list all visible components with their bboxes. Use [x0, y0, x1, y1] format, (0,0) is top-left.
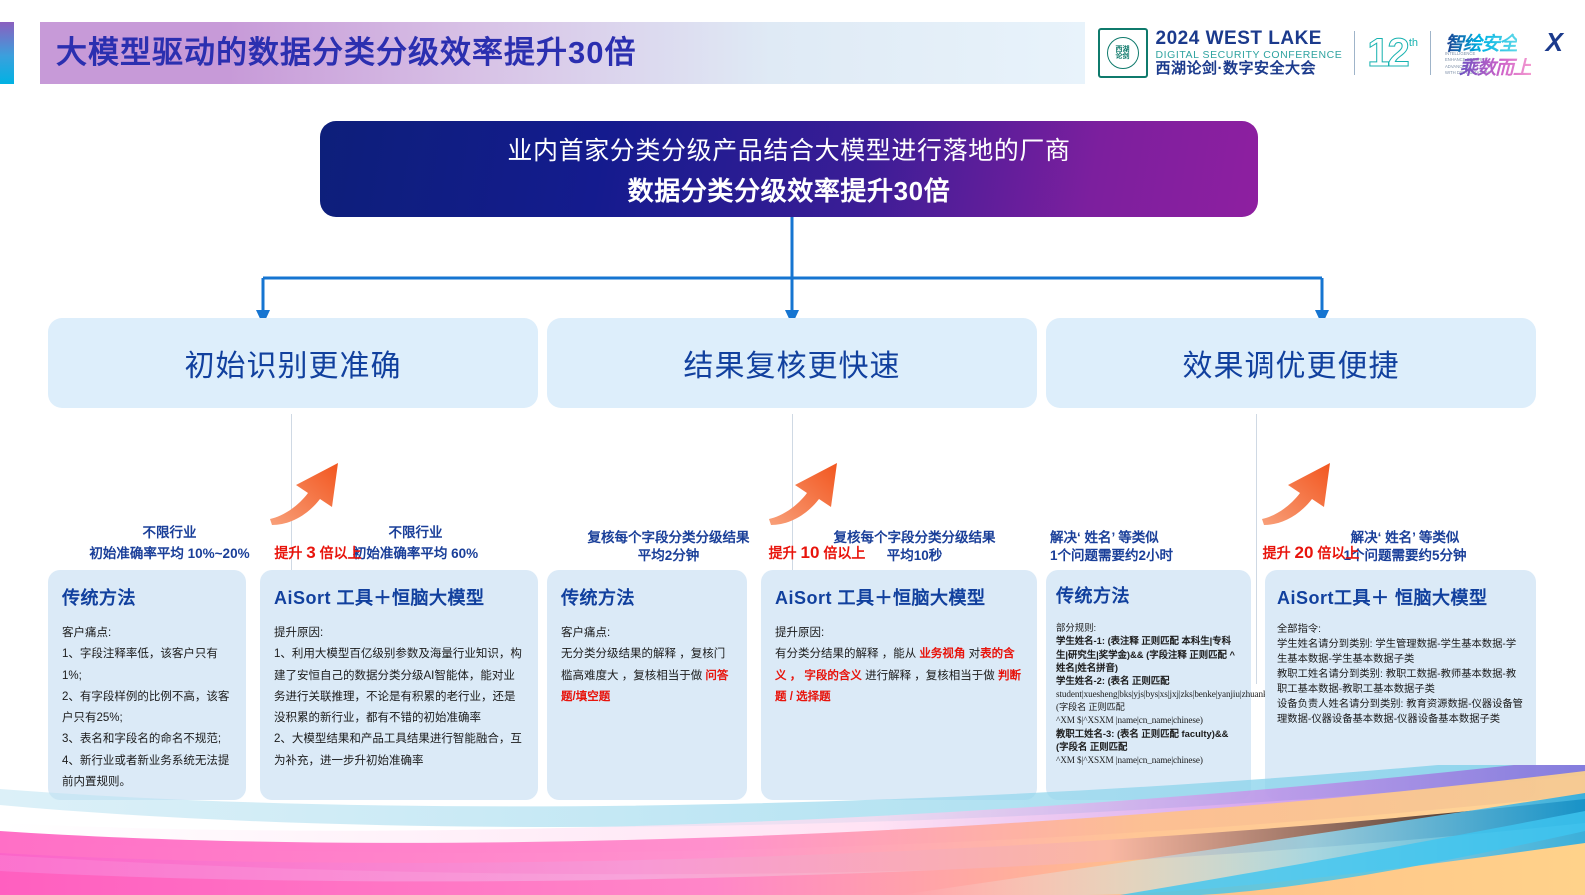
banner-line-2: 数据分类分级效率提升30倍 — [628, 171, 951, 208]
panel-line-aisort-1-0: 1、利用大模型百亿级别参数及海量行业知识，构建了安恒自己的数据分类分级AI智能体… — [274, 644, 524, 729]
hero-banner: 业内首家分类分级产品结合大模型进行落地的厂商 数据分类分级效率提升30倍 — [320, 121, 1258, 217]
uplift-prefix-1: 提升 — [274, 545, 302, 561]
panel-lead-1: 客户痛点: — [62, 623, 232, 644]
panel-line-1-1: 2、有字段样例的比例不高，该客户只有25%; — [62, 687, 232, 730]
uplift-label-1: 提升 3 倍以上 — [253, 543, 383, 563]
panel-body-aisort-2: 有分类分结果的解释 ，能从 业务视角 对表的含义 ， 字段的含义 进行解释 ，复… — [775, 644, 1023, 708]
stat-traditional-3-line2: 1个问题需要约2小时 — [1050, 547, 1256, 565]
conference-slogan-logo: 智绘安全 X INTELLIGENCEENHANCE SECURITYADVAN… — [1443, 27, 1571, 79]
panel-text-aisort-1: 提升原因: 1、利用大模型百亿级别参数及海量行业知识，构建了安恒自己的数据分类分… — [274, 623, 524, 772]
seg-2: 对 — [965, 648, 980, 660]
uplift-prefix-2: 提升 — [769, 545, 797, 561]
hl-business-view: 业务视角 — [919, 648, 965, 660]
column-heading-2: 结果复核更快速 — [547, 318, 1037, 408]
panel-lead-aisort-3: 全部指令: — [1277, 623, 1524, 638]
panel-title-traditional-2: 传统方法 — [561, 584, 733, 610]
uplift-suffix-2: 倍以上 — [823, 545, 865, 561]
conference-subtitle-en: DIGITAL SECURITY CONFERENCE — [1156, 50, 1343, 61]
growth-arrow-icon-3 — [1258, 455, 1342, 527]
column-heading-3: 效果调优更便捷 — [1046, 318, 1536, 408]
uplift-value-3: 20 — [1295, 543, 1314, 562]
panel-text-traditional-2: 客户痛点: 无分类分级结果的解释 ，复核门槛高难度大 ，复核相当于做 问答题/填… — [561, 623, 733, 708]
emblem-text: 西湖论剑 — [1116, 46, 1130, 61]
panel-text-traditional-3: 部分规则: 学生姓名-1: (表注释 正则匹配 本科生|专科生|研究生|奖学金)… — [1056, 621, 1241, 767]
panel-lead-aisort-1: 提升原因: — [274, 623, 524, 644]
rule-line-1: 学生姓名-2: (表名 正则匹配 — [1056, 674, 1241, 687]
panel-lead-3: 部分规则: — [1056, 621, 1241, 634]
uplift-prefix-3: 提升 — [1263, 545, 1291, 561]
stat-traditional-3: 解决‘ 姓名’ 等类似 1个问题需要约2小时 — [1046, 529, 1256, 565]
column-review-speed: 结果复核更快速 复核每个字段分类分级结果 平均2分钟 复核每个字段分类分级结果 … — [547, 318, 1037, 768]
panel-lead-aisort-2: 提升原因: — [775, 623, 1023, 644]
uplift-value-1: 3 — [306, 543, 315, 562]
comparison-columns: 初始识别更准确 不限行业 初始准确率平均 10%~20% 不限行业 初始准确率平… — [0, 318, 1585, 776]
instruction-line-0: 学生姓名请分到类别: 学生管理数据-学生基本数据-学生基本数据-学生基本数据子类 — [1277, 638, 1524, 668]
rule-line-4: 教职工姓名-3: (表名 正则匹配 faculty)&& (字段名 正则匹配 — [1056, 727, 1241, 754]
uplift-label-3: 提升 20 倍以上 — [1246, 543, 1376, 563]
panel-title-aisort-1: AiSort 工具＋恒脑大模型 — [274, 584, 524, 610]
edition-badge: 12 th — [1367, 34, 1418, 72]
panel-text-aisort-2: 提升原因: 有分类分结果的解释 ，能从 业务视角 对表的含义 ， 字段的含义 进… — [775, 623, 1023, 708]
bottom-decoration — [0, 765, 1585, 895]
conference-name-block: 2024 WEST LAKE DIGITAL SECURITY CONFEREN… — [1156, 29, 1343, 76]
logo-divider-2 — [1430, 31, 1431, 75]
column-body-3: 解决‘ 姓名’ 等类似 1个问题需要约2小时 解决‘ 姓名’ 等类似 1个问题需… — [1046, 408, 1536, 768]
header-accent-bar — [0, 22, 14, 84]
panel-title-traditional-1: 传统方法 — [62, 584, 232, 610]
edition-suffix: th — [1409, 37, 1418, 49]
rule-line-2: student|xuesheng|bks|yjs|bys|xs|jxj|zks|… — [1056, 688, 1241, 714]
column-initial-recognition: 初始识别更准确 不限行业 初始准确率平均 10%~20% 不限行业 初始准确率平… — [48, 318, 538, 768]
uplift-suffix-3: 倍以上 — [1317, 545, 1359, 561]
page-title: 大模型驱动的数据分类分级效率提升30倍 — [56, 22, 636, 84]
conference-name-cn: 西湖论剑·数字安全大会 — [1156, 61, 1343, 77]
conference-name-en: 2024 WEST LAKE — [1156, 29, 1343, 49]
conference-emblem-icon: 西湖论剑 — [1098, 28, 1148, 78]
column-stats-1: 不限行业 初始准确率平均 10%~20% 不限行业 初始准确率平均 60% — [48, 503, 538, 565]
column-stats-3: 解决‘ 姓名’ 等类似 1个问题需要约2小时 解决‘ 姓名’ 等类似 1个问题需… — [1046, 503, 1536, 565]
rule-line-0: 学生姓名-1: (表注释 正则匹配 本科生|专科生|研究生|奖学金)&& (字段… — [1056, 634, 1241, 674]
slide-root: 大模型驱动的数据分类分级效率提升30倍 西湖论剑 2024 WEST LAKE … — [0, 0, 1585, 895]
seg-1: 有分类分结果的解释 ，能从 — [775, 648, 919, 660]
instruction-line-2: 设备负责人姓名请分到类别: 教育资源数据-仪器设备管理数据-仪器设备基本数据-仪… — [1277, 698, 1524, 728]
panel-body-2: 无分类分级结果的解释 ，复核门槛高难度大 ，复核相当于做 问答题/填空题 — [561, 644, 733, 708]
instruction-line-1: 教职工姓名请分到类别: 教职工数据-教师基本数据-教职工基本数据-教职工基本数据… — [1277, 668, 1524, 698]
panel-title-aisort-3: AiSort工具＋ 恒脑大模型 — [1277, 584, 1524, 610]
rule-line-3: ^XM $|^XSXM |name|cn_name|chinese) — [1056, 714, 1241, 727]
logo-divider-1 — [1354, 31, 1355, 75]
uplift-label-2: 提升 10 倍以上 — [752, 543, 882, 563]
slogan-bottom: 乘数而上 — [1459, 53, 1531, 80]
seg-3: 进行解释 ，复核相当于做 — [862, 670, 998, 682]
stat-traditional-1-line1: 不限行业 — [48, 523, 291, 544]
uplift-suffix-1: 倍以上 — [320, 545, 362, 561]
banner-line-1: 业内首家分类分级产品结合大模型进行落地的厂商 — [507, 131, 1070, 167]
edition-number: 12 — [1367, 34, 1408, 72]
panel-body-2-text: 无分类分级结果的解释 ，复核门槛高难度大 ，复核相当于做 — [561, 648, 725, 681]
panel-title-traditional-3: 传统方法 — [1056, 582, 1241, 608]
panel-title-aisort-2: AiSort 工具＋恒脑大模型 — [775, 584, 1023, 610]
uplift-value-2: 10 — [801, 543, 820, 562]
growth-arrow-icon-1 — [266, 455, 350, 527]
panel-line-1-0: 1、字段注释率低，该客户只有 1%; — [62, 644, 232, 687]
column-body-1: 不限行业 初始准确率平均 10%~20% 不限行业 初始准确率平均 60% — [48, 408, 538, 768]
column-heading-1: 初始识别更准确 — [48, 318, 538, 408]
panel-text-aisort-3: 全部指令: 学生姓名请分到类别: 学生管理数据-学生基本数据-学生基本数据-学生… — [1277, 623, 1524, 727]
slogan-x-icon: X — [1546, 27, 1563, 58]
panel-line-1-2: 3、表名和字段名的命名不规范; — [62, 729, 232, 750]
stat-traditional-3-line1: 解决‘ 姓名’ 等类似 — [1050, 529, 1256, 547]
column-stats-2: 复核每个字段分类分级结果 平均2分钟 复核每个字段分类分级结果 平均10秒 — [547, 503, 1037, 565]
column-tuning-convenience: 效果调优更便捷 解决‘ 姓名’ 等类似 1个问题需要约2小时 解决‘ 姓名’ 等… — [1046, 318, 1536, 768]
conference-logo-lockup: 西湖论剑 2024 WEST LAKE DIGITAL SECURITY CON… — [1098, 24, 1571, 82]
panel-lead-2: 客户痛点: — [561, 623, 733, 644]
growth-arrow-icon-2 — [765, 455, 849, 527]
column-body-2: 复核每个字段分类分级结果 平均2分钟 复核每个字段分类分级结果 平均10秒 — [547, 408, 1037, 768]
